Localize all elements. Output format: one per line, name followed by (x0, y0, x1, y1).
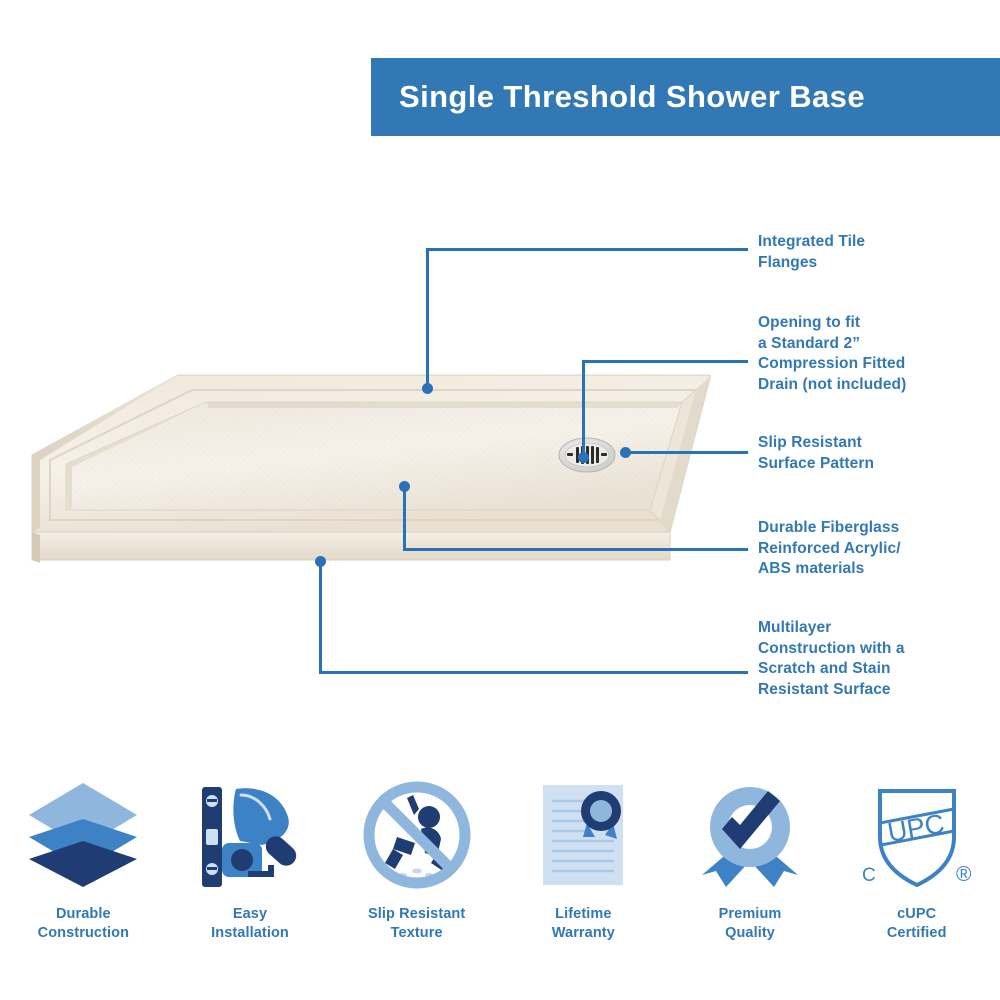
feature-label: cUPC Certified (887, 905, 947, 943)
callout-line: a Standard 2” (758, 334, 993, 355)
feature-easy-installation: Easy Installation (167, 775, 334, 975)
cupc-prefix: C (862, 865, 876, 886)
callout-line: Surface Pattern (758, 454, 988, 475)
feature-strip: Durable Construction (0, 775, 1000, 975)
feature-label-line: Lifetime (552, 905, 615, 924)
feature-label-line: Premium (719, 905, 782, 924)
callout-line: Construction with a (758, 639, 993, 660)
feature-cupc-certified: UPC C ® cUPC Certified (833, 775, 1000, 975)
page-title: Single Threshold Shower Base (371, 79, 865, 115)
callout-line: Durable Fiberglass (758, 518, 993, 539)
callout-multilayer-construction: Multilayer Construction with a Scratch a… (758, 618, 993, 700)
leader-line-integrated-tile-flanges-h (426, 248, 748, 251)
callout-drain-opening: Opening to fit a Standard 2” Compression… (758, 313, 993, 395)
leader-line-multilayer-construction-h (319, 671, 748, 674)
feature-label: Slip Resistant Texture (368, 905, 465, 943)
feature-premium-quality: Premium Quality (667, 775, 834, 975)
callout-line: Reinforced Acrylic/ (758, 539, 993, 560)
cupc-shield-icon: UPC C ® (854, 775, 980, 895)
feature-label-line: Slip Resistant (368, 905, 465, 924)
feature-label: Easy Installation (211, 905, 289, 943)
callout-line: Drain (not included) (758, 375, 993, 396)
shower-base-illustration (10, 360, 730, 610)
feature-lifetime-warranty: Lifetime Warranty (500, 775, 667, 975)
feature-label-line: Durable (38, 905, 129, 924)
leader-line-slip-resistant-surface-h (625, 451, 748, 454)
quality-rosette-icon (692, 775, 808, 895)
certificate-icon (525, 775, 641, 895)
leader-line-drain-opening-h (582, 360, 748, 363)
callout-durable-fiberglass: Durable Fiberglass Reinforced Acrylic/ A… (758, 518, 993, 580)
feature-label: Premium Quality (719, 905, 782, 943)
feature-label-line: Warranty (552, 924, 615, 943)
callout-line: ABS materials (758, 559, 993, 580)
no-slip-icon (359, 775, 475, 895)
feature-label-line: Quality (719, 924, 782, 943)
registered-icon: ® (956, 863, 972, 886)
feature-label: Durable Construction (38, 905, 129, 943)
feature-label-line: cUPC (887, 905, 947, 924)
leader-line-durable-fiberglass-v (403, 487, 406, 551)
callout-line: Scratch and Stain (758, 659, 993, 680)
callout-line: Resistant Surface (758, 680, 993, 701)
callout-line: Multilayer (758, 618, 993, 639)
callout-line: Compression Fitted (758, 354, 993, 375)
leader-line-durable-fiberglass-h (403, 548, 748, 551)
callout-line: Opening to fit (758, 313, 993, 334)
feature-label-line: Easy (211, 905, 289, 924)
feature-label: Lifetime Warranty (552, 905, 615, 943)
feature-label-line: Installation (211, 924, 289, 943)
callout-line: Integrated Tile (758, 232, 988, 253)
feature-durable-construction: Durable Construction (0, 775, 167, 975)
leader-line-drain-opening-v (582, 360, 585, 458)
callout-slip-resistant-surface: Slip Resistant Surface Pattern (758, 433, 988, 474)
tools-icon (192, 775, 308, 895)
feature-label-line: Texture (368, 924, 465, 943)
leader-line-multilayer-construction-v (319, 562, 322, 674)
callout-integrated-tile-flanges: Integrated Tile Flanges (758, 232, 988, 273)
feature-label-line: Construction (38, 924, 129, 943)
title-banner: Single Threshold Shower Base (371, 58, 1000, 136)
feature-label-line: Certified (887, 924, 947, 943)
cupc-letters: UPC (885, 808, 946, 847)
callout-line: Flanges (758, 253, 988, 274)
product-infographic: Single Threshold Shower Base (0, 0, 1000, 1000)
callout-line: Slip Resistant (758, 433, 988, 454)
layers-icon (25, 775, 141, 895)
leader-line-integrated-tile-flanges-v (426, 248, 429, 388)
feature-slip-resistant-texture: Slip Resistant Texture (333, 775, 500, 975)
